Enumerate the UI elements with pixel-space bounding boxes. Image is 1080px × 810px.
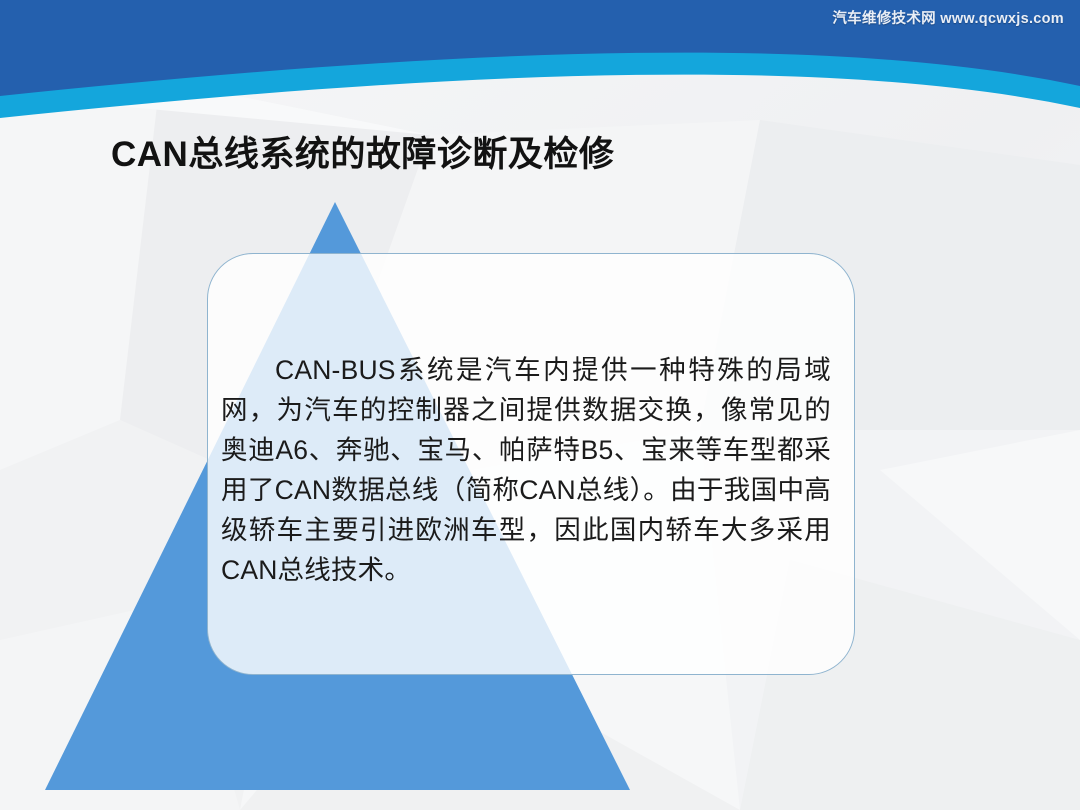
card-body-text: CAN-BUS系统是汽车内提供一种特殊的局域网，为汽车的控制器之间提供数据交换，… bbox=[221, 350, 831, 590]
presentation-slide: 汽车维修技术网 www.qcwxjs.com CAN总线系统的故障诊断及检修 C… bbox=[0, 0, 1080, 810]
page-title: CAN总线系统的故障诊断及检修 bbox=[111, 126, 614, 177]
site-watermark: 汽车维修技术网 www.qcwxjs.com bbox=[832, 7, 1064, 28]
content-card: CAN-BUS系统是汽车内提供一种特殊的局域网，为汽车的控制器之间提供数据交换，… bbox=[207, 253, 855, 675]
